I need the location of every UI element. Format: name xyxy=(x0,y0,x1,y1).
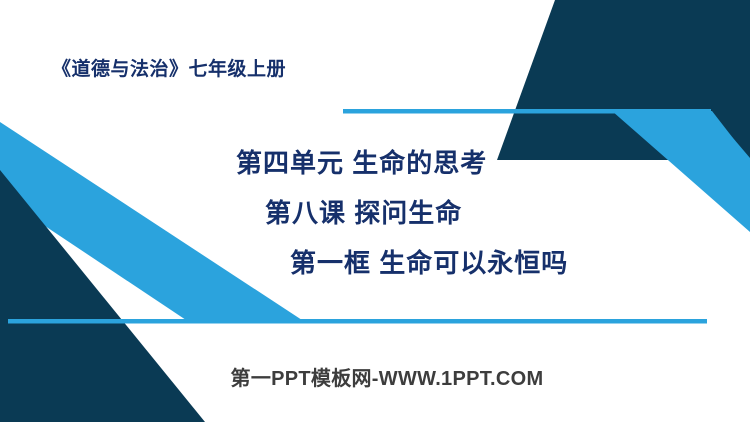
top-rule-line xyxy=(343,109,711,114)
footer-watermark-text: 第一PPT模板网-WWW.1PPT.COM xyxy=(231,362,544,391)
title-line-frame: 第一框 生命可以永恒吗 xyxy=(290,250,750,276)
title-line-unit: 第四单元 生命的思考 xyxy=(236,150,750,176)
slide-subtitle: 《道德与法治》七年级上册 xyxy=(52,54,286,81)
footer-watermark: 第一PPT模板网-WWW.1PPT.COM xyxy=(0,362,750,391)
bottom-rule-line xyxy=(8,319,707,324)
title-line-lesson: 第八课 探问生命 xyxy=(265,200,750,226)
slide-title-block: 第四单元 生命的思考 第八课 探问生命 第一框 生命可以永恒吗 xyxy=(0,150,750,276)
presentation-slide: 《道德与法治》七年级上册 第四单元 生命的思考 第八课 探问生命 第一框 生命可… xyxy=(0,0,750,422)
